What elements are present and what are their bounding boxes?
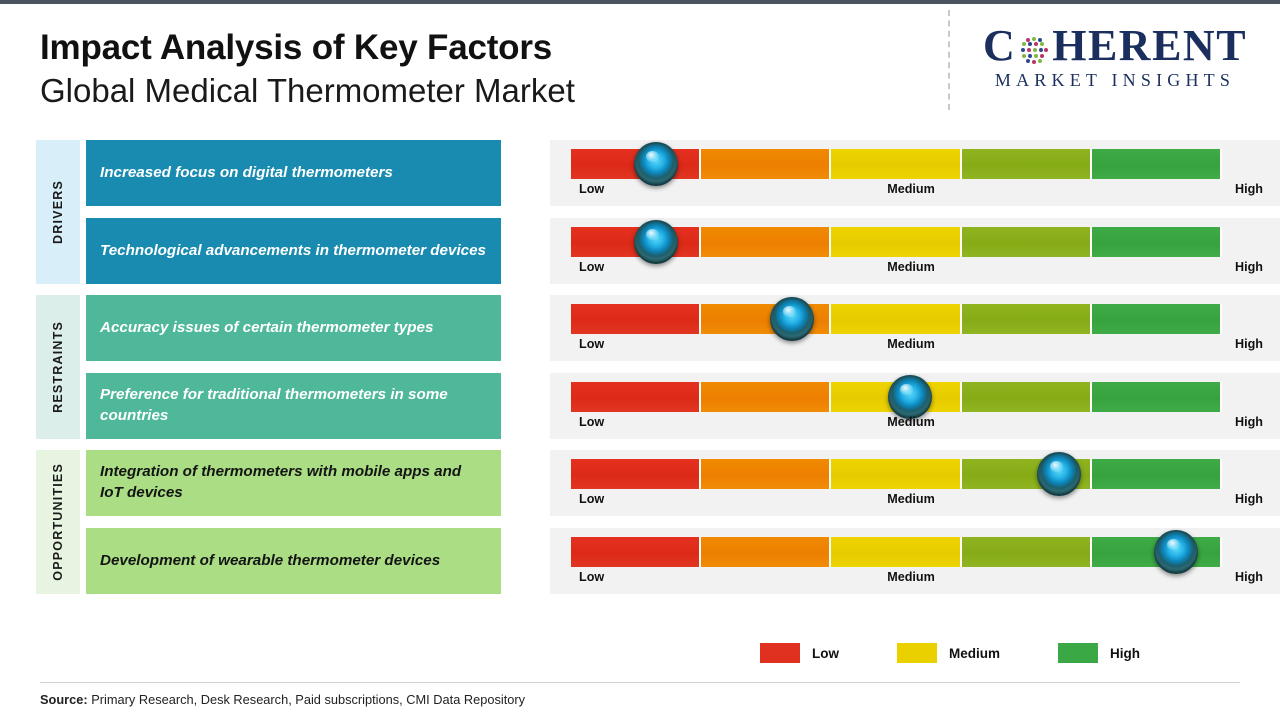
- impact-scale-bar: [571, 537, 1222, 567]
- legend-item-low: Low: [760, 643, 839, 663]
- scale-segment-2: [701, 382, 831, 412]
- company-logo: C: [960, 24, 1270, 91]
- scale-segment-5: [1092, 149, 1222, 179]
- logo-wordmark: C: [960, 24, 1270, 68]
- factor-box: Accuracy issues of certain thermometer t…: [86, 295, 501, 361]
- impact-marker-icon[interactable]: [1037, 452, 1081, 496]
- impact-marker-icon[interactable]: [1154, 530, 1198, 574]
- scale-label-low: Low: [579, 337, 604, 351]
- logo-letters-herent: HERENT: [1052, 24, 1247, 68]
- scale-segment-4: [962, 382, 1092, 412]
- dotted-globe-icon: [1017, 31, 1051, 65]
- title-block: Impact Analysis of Key Factors Global Me…: [40, 28, 575, 111]
- scale-segment-5: [1092, 382, 1222, 412]
- scale-label-medium: Medium: [887, 415, 935, 429]
- factor-row: Increased focus on digital thermometersL…: [86, 140, 1248, 206]
- impact-scale-bar: [571, 304, 1222, 334]
- scale-label-medium: Medium: [887, 260, 935, 274]
- scale-label-medium: Medium: [887, 182, 935, 196]
- source-text: Primary Research, Desk Research, Paid su…: [88, 692, 525, 707]
- factor-text: Technological advancements in thermomete…: [100, 241, 486, 262]
- scale-segment-1: [571, 459, 701, 489]
- header: Impact Analysis of Key Factors Global Me…: [0, 4, 1280, 132]
- scale-segment-5: [1092, 227, 1222, 257]
- category-group-opportunities: OPPORTUNITIESIntegration of thermometers…: [36, 450, 1248, 594]
- scale-labels: LowMediumHigh: [571, 570, 1251, 590]
- scale-label-high: High: [1235, 260, 1263, 274]
- scale-labels: LowMediumHigh: [571, 492, 1251, 512]
- factor-box: Increased focus on digital thermometers: [86, 140, 501, 206]
- category-group-restraints: RESTRAINTSAccuracy issues of certain the…: [36, 295, 1248, 439]
- scale-label-low: Low: [579, 260, 604, 274]
- impact-scale-panel: LowMediumHigh: [550, 140, 1280, 206]
- scale-segment-2: [701, 459, 831, 489]
- dashed-vertical-divider-icon: [948, 10, 950, 110]
- category-label-drivers: DRIVERS: [36, 140, 80, 284]
- category-label-restraints: RESTRAINTS: [36, 295, 80, 439]
- scale-label-medium: Medium: [887, 570, 935, 584]
- scale-label-low: Low: [579, 415, 604, 429]
- category-label-text: DRIVERS: [51, 180, 65, 244]
- impact-scale-bar: [571, 149, 1222, 179]
- impact-scale-panel: LowMediumHigh: [550, 295, 1280, 361]
- scale-segment-3: [831, 227, 961, 257]
- factor-row: Integration of thermometers with mobile …: [86, 450, 1248, 516]
- source-note: Source: Primary Research, Desk Research,…: [40, 692, 525, 707]
- impact-scale-panel: LowMediumHigh: [550, 528, 1280, 594]
- scale-label-low: Low: [579, 492, 604, 506]
- scale-label-high: High: [1235, 182, 1263, 196]
- scale-segment-3: [831, 537, 961, 567]
- scale-segment-2: [701, 537, 831, 567]
- scale-segment-3: [831, 149, 961, 179]
- scale-label-low: Low: [579, 182, 604, 196]
- factor-row: Development of wearable thermometer devi…: [86, 528, 1248, 594]
- impact-scale-panel: LowMediumHigh: [550, 373, 1280, 439]
- impact-scale-bar: [571, 459, 1222, 489]
- legend-label: Medium: [949, 646, 1000, 661]
- legend-label: Low: [812, 646, 839, 661]
- scale-segment-3: [831, 459, 961, 489]
- source-divider: [40, 682, 1240, 683]
- scale-label-high: High: [1235, 337, 1263, 351]
- factor-box: Technological advancements in thermomete…: [86, 218, 501, 284]
- legend-swatch: [760, 643, 800, 663]
- scale-labels: LowMediumHigh: [571, 415, 1251, 435]
- logo-letter-c: C: [983, 24, 1016, 68]
- scale-labels: LowMediumHigh: [571, 337, 1251, 357]
- source-label: Source:: [40, 692, 88, 707]
- scale-label-medium: Medium: [887, 492, 935, 506]
- scale-segment-1: [571, 537, 701, 567]
- impact-scale-bar: [571, 227, 1222, 257]
- factor-box: Development of wearable thermometer devi…: [86, 528, 501, 594]
- factor-text: Increased focus on digital thermometers: [100, 163, 393, 184]
- legend-swatch: [897, 643, 937, 663]
- impact-scale-panel: LowMediumHigh: [550, 218, 1280, 284]
- legend: LowMediumHigh: [760, 643, 1220, 663]
- factor-row: Accuracy issues of certain thermometer t…: [86, 295, 1248, 361]
- factor-row: Technological advancements in thermomete…: [86, 218, 1248, 284]
- scale-segment-3: [831, 304, 961, 334]
- scale-label-high: High: [1235, 492, 1263, 506]
- category-label-opportunities: OPPORTUNITIES: [36, 450, 80, 594]
- scale-labels: LowMediumHigh: [571, 182, 1251, 202]
- factor-text: Integration of thermometers with mobile …: [100, 462, 487, 503]
- factor-row: Preference for traditional thermometers …: [86, 373, 1248, 439]
- impact-marker-icon[interactable]: [888, 375, 932, 419]
- legend-item-medium: Medium: [897, 643, 1000, 663]
- page-subtitle: Global Medical Thermometer Market: [40, 71, 575, 111]
- scale-label-high: High: [1235, 570, 1263, 584]
- scale-segment-4: [962, 304, 1092, 334]
- factor-text: Development of wearable thermometer devi…: [100, 551, 440, 572]
- impact-scale-panel: LowMediumHigh: [550, 450, 1280, 516]
- scale-segment-4: [962, 227, 1092, 257]
- scale-label-low: Low: [579, 570, 604, 584]
- scale-label-high: High: [1235, 415, 1263, 429]
- factor-text: Preference for traditional thermometers …: [100, 385, 487, 426]
- scale-segment-5: [1092, 459, 1222, 489]
- category-group-drivers: DRIVERSIncreased focus on digital thermo…: [36, 140, 1248, 284]
- legend-label: High: [1110, 646, 1140, 661]
- scale-label-medium: Medium: [887, 337, 935, 351]
- scale-segment-4: [962, 537, 1092, 567]
- legend-item-high: High: [1058, 643, 1140, 663]
- scale-segment-4: [962, 149, 1092, 179]
- factor-box: Preference for traditional thermometers …: [86, 373, 501, 439]
- scale-segment-1: [571, 382, 701, 412]
- legend-swatch: [1058, 643, 1098, 663]
- logo-tagline: MARKET INSIGHTS: [960, 70, 1270, 91]
- category-label-text: RESTRAINTS: [51, 321, 65, 413]
- page-title: Impact Analysis of Key Factors: [40, 28, 575, 67]
- scale-segment-5: [1092, 304, 1222, 334]
- impact-marker-icon[interactable]: [634, 220, 678, 264]
- factor-text: Accuracy issues of certain thermometer t…: [100, 318, 433, 339]
- impact-marker-icon[interactable]: [770, 297, 814, 341]
- scale-segment-2: [701, 149, 831, 179]
- scale-segment-2: [701, 227, 831, 257]
- impact-scale-bar: [571, 382, 1222, 412]
- impact-marker-icon[interactable]: [634, 142, 678, 186]
- category-label-text: OPPORTUNITIES: [51, 463, 65, 581]
- factor-box: Integration of thermometers with mobile …: [86, 450, 501, 516]
- scale-segment-1: [571, 304, 701, 334]
- scale-labels: LowMediumHigh: [571, 260, 1251, 280]
